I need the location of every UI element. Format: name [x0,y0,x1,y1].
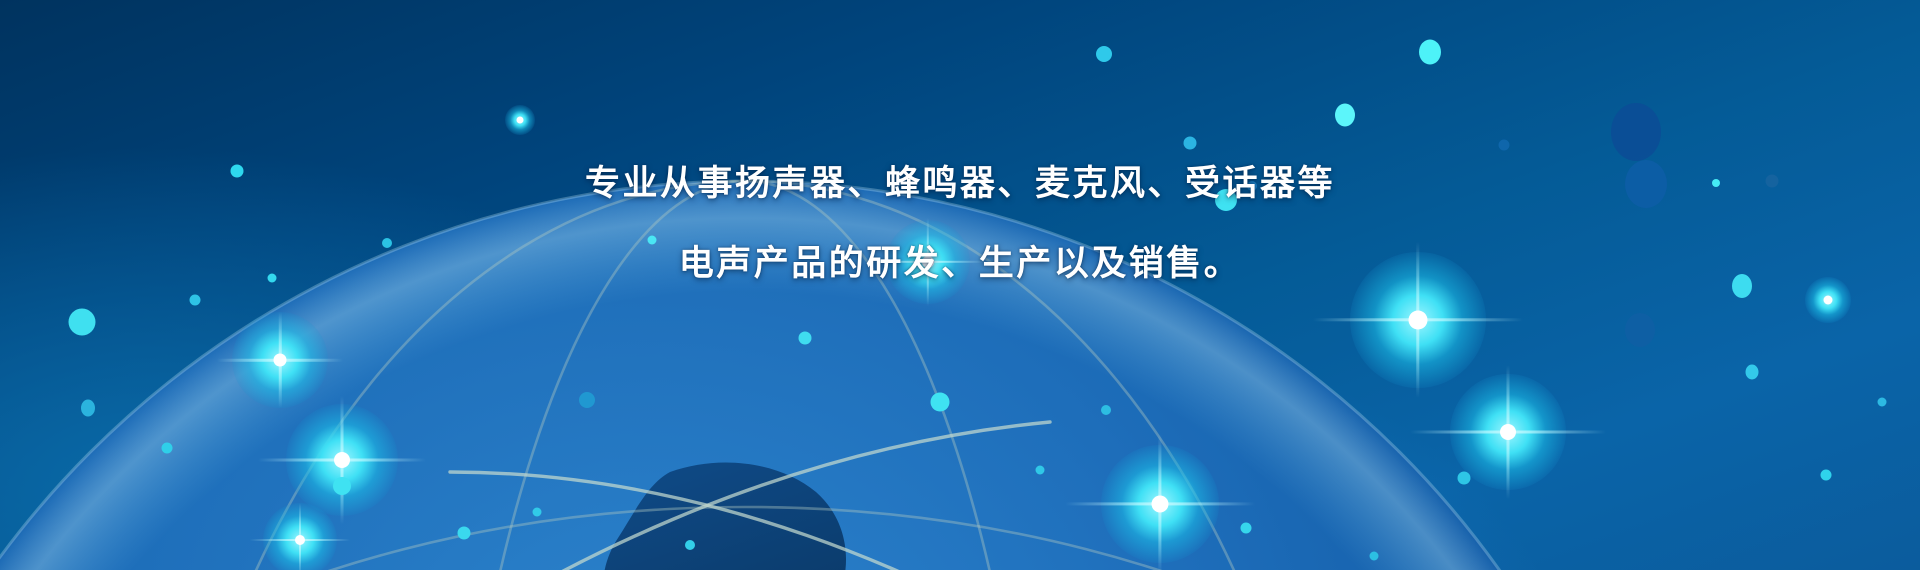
globe-graphic [0,172,1680,570]
glow-node [220,300,340,420]
particle-dot [1036,466,1045,475]
particle-dot [1611,103,1661,161]
glow-node [252,492,348,570]
glow-node [868,202,988,322]
particle-dot [1625,313,1655,347]
particle-dot [231,165,244,178]
headline-line-1: 专业从事扬声器、蜂鸣器、麦克风、受话器等 [0,166,1920,201]
glow-node [1433,357,1583,507]
particle-dot [1746,365,1759,380]
particle-dot [1625,160,1667,208]
particle-dot [799,332,812,345]
particle-dot [1712,179,1720,187]
headline-line-2: 电声产品的研发、生产以及销售。 [0,246,1920,281]
particle-dot [1247,181,1257,191]
particle-dot [333,477,351,495]
particle-dot [1419,40,1441,65]
particle-dot [268,274,277,283]
particle-dot [1878,398,1887,407]
particle-dot [162,443,173,454]
particle-dot [1499,140,1510,151]
particle-dot [579,392,595,408]
particle-dot [931,393,950,412]
glow-node [1333,235,1503,405]
particle-dot [1215,189,1237,211]
particle-dot [69,309,96,336]
particle-dot [190,295,201,306]
particle-dot [1241,523,1252,534]
particle-dot [81,400,95,417]
particle-dot [533,508,542,517]
glow-node [1085,429,1235,570]
particle-dot [1766,175,1779,188]
glow-node [272,390,412,530]
particle-dot [458,527,471,540]
particle-dot [382,238,392,248]
headline-block: 专业从事扬声器、蜂鸣器、麦克风、受话器等 电声产品的研发、生产以及销售。 [0,166,1920,281]
particle-dot [1821,470,1832,481]
particle-dot [1458,472,1471,485]
particle-dot [1101,405,1111,415]
particle-dot [1335,104,1355,127]
particle-dot [1184,137,1197,150]
particle-dot [648,236,657,245]
particle-dot [685,540,695,550]
particle-dot [1096,46,1112,62]
particle-dot [1732,274,1752,298]
particle-dot [1370,552,1379,561]
glow-node [1798,270,1858,330]
glow-node [500,100,540,140]
hero-banner: 专业从事扬声器、蜂鸣器、麦克风、受话器等 电声产品的研发、生产以及销售。 [0,0,1920,570]
